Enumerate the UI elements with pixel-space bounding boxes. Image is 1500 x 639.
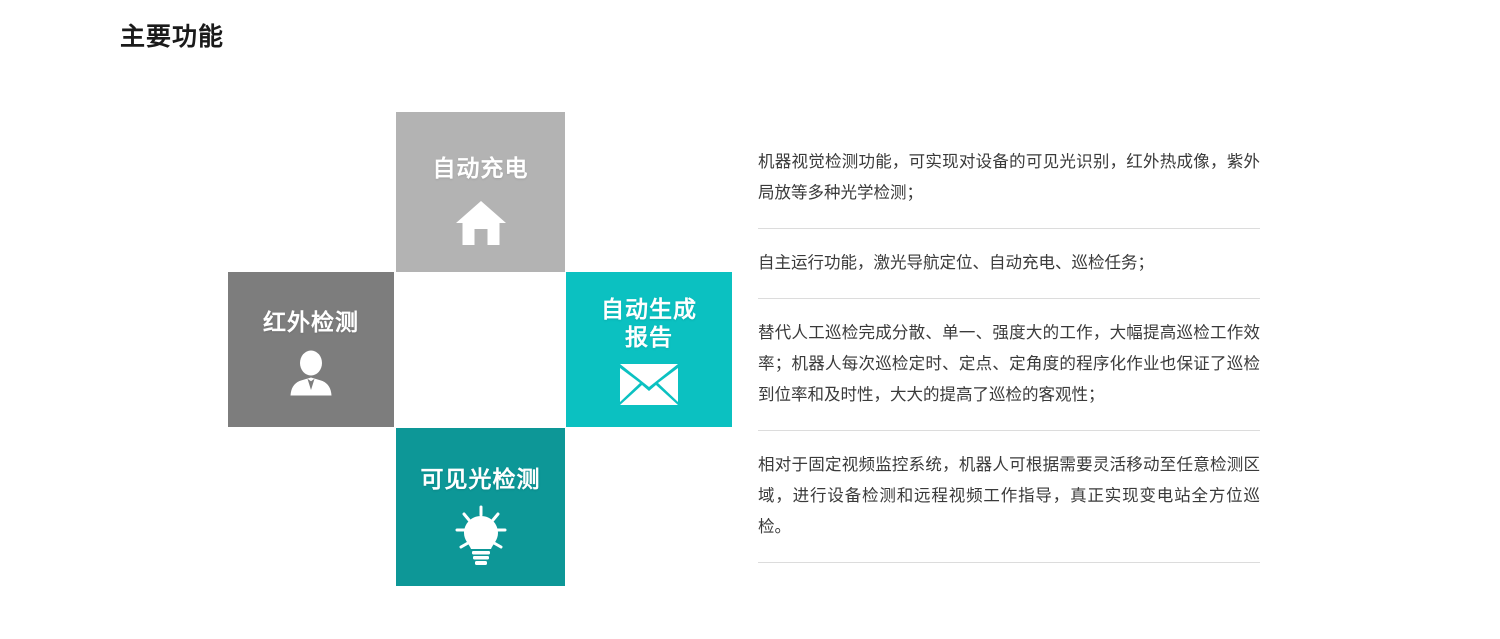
tile-visible-light[interactable]: 可见光检测: [396, 428, 565, 586]
feature-text: 自主运行功能，激光导航定位、自动充电、巡检任务；: [758, 247, 1260, 278]
tile-infrared[interactable]: 红外检测: [228, 272, 394, 427]
feature-text: 替代人工巡检完成分散、单一、强度大的工作，大幅提高巡检工作效率；机器人每次巡检定…: [758, 317, 1260, 410]
home-icon: [454, 198, 508, 248]
tile-auto-report[interactable]: 自动生成 报告: [566, 272, 732, 427]
feature-item: 相对于固定视频监控系统，机器人可根据需要灵活移动至任意检测区域，进行设备检测和远…: [758, 449, 1260, 563]
lightbulb-icon: [451, 505, 511, 567]
feature-item: 替代人工巡检完成分散、单一、强度大的工作，大幅提高巡检工作效率；机器人每次巡检定…: [758, 317, 1260, 431]
tile-infrared-label: 红外检测: [263, 308, 359, 336]
tile-auto-charge[interactable]: 自动充电: [396, 112, 565, 272]
tile-auto-charge-label: 自动充电: [433, 154, 529, 182]
feature-item: 自主运行功能，激光导航定位、自动充电、巡检任务；: [758, 247, 1260, 299]
feature-description-list: 机器视觉检测功能，可实现对设备的可见光识别，红外热成像，紫外局放等多种光学检测；…: [758, 146, 1260, 563]
feature-tile-cluster: 自动充电 红外检测 自动生成 报告: [228, 112, 565, 586]
feature-item: 机器视觉检测功能，可实现对设备的可见光识别，红外热成像，紫外局放等多种光学检测；: [758, 146, 1260, 229]
page-title: 主要功能: [120, 17, 224, 53]
person-icon: [288, 350, 334, 398]
tile-visible-light-label: 可见光检测: [421, 465, 541, 493]
feature-text: 相对于固定视频监控系统，机器人可根据需要灵活移动至任意检测区域，进行设备检测和远…: [758, 449, 1260, 542]
envelope-icon: [618, 361, 680, 405]
tile-auto-report-label: 自动生成 报告: [601, 295, 697, 351]
feature-text: 机器视觉检测功能，可实现对设备的可见光识别，红外热成像，紫外局放等多种光学检测；: [758, 146, 1260, 208]
